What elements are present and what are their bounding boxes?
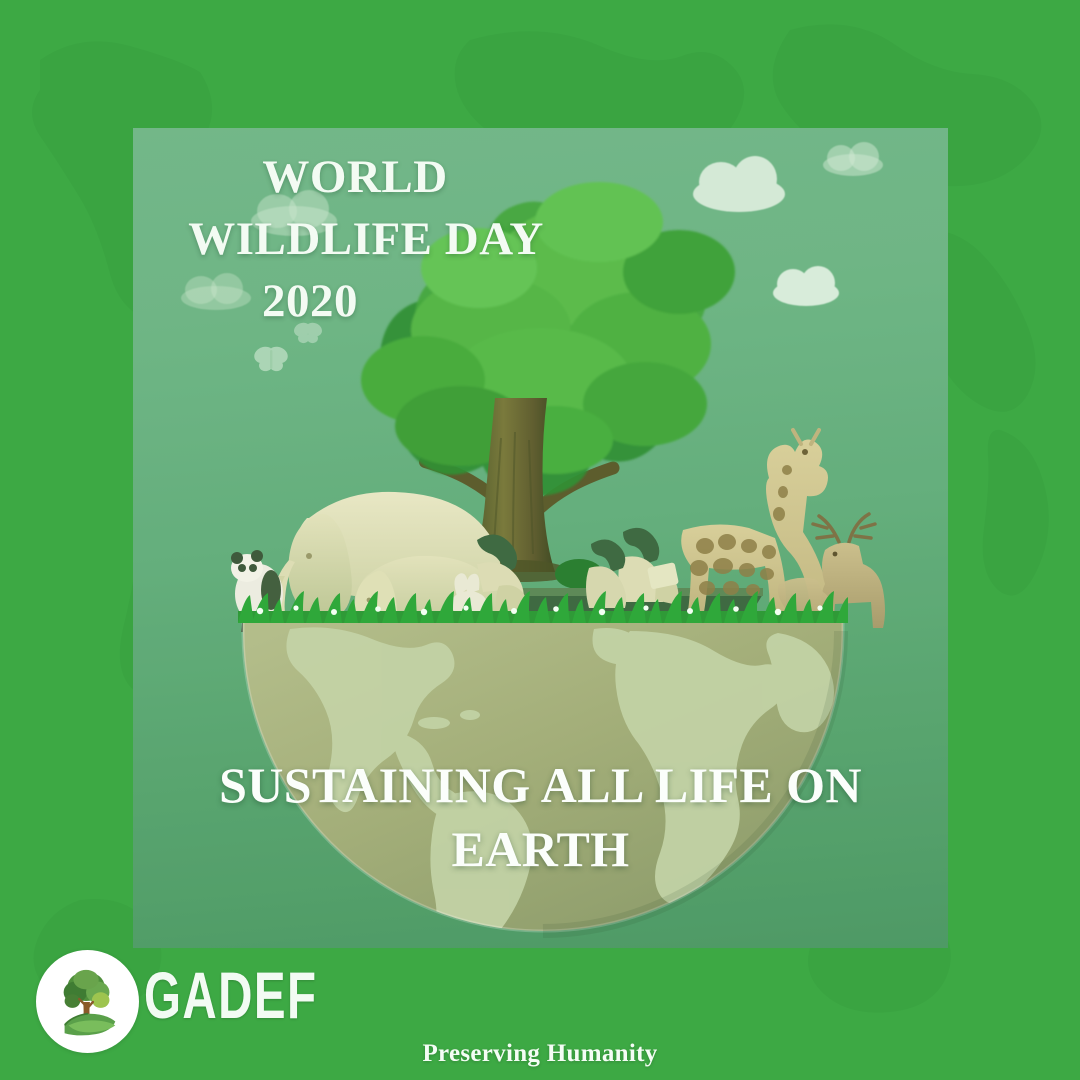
headline: WORLD WILDLIFE DAY 2020 (151, 146, 581, 332)
poster-canvas: WORLD WILDLIFE DAY 2020 SUSTAINING ALL L… (0, 0, 1080, 1080)
headline-line-2: WILDLIFE DAY (151, 208, 581, 270)
cloud-icon (773, 280, 839, 306)
headline-line-1: WORLD (151, 146, 581, 208)
brand-name: GADEF (144, 962, 318, 1028)
headline-line-3: 2020 (151, 270, 581, 332)
illustration-panel: WORLD WILDLIFE DAY 2020 SUSTAINING ALL L… (133, 128, 948, 948)
subline: SUSTAINING ALL LIFE ON EARTH (173, 753, 908, 881)
gadef-logo[interactable] (36, 950, 139, 1053)
grass-strip (238, 583, 848, 623)
footer: GADEF Preserving Humanity (0, 948, 1080, 1080)
brand-tagline: Preserving Humanity (0, 1040, 1080, 1068)
cloud-icon (823, 154, 883, 176)
